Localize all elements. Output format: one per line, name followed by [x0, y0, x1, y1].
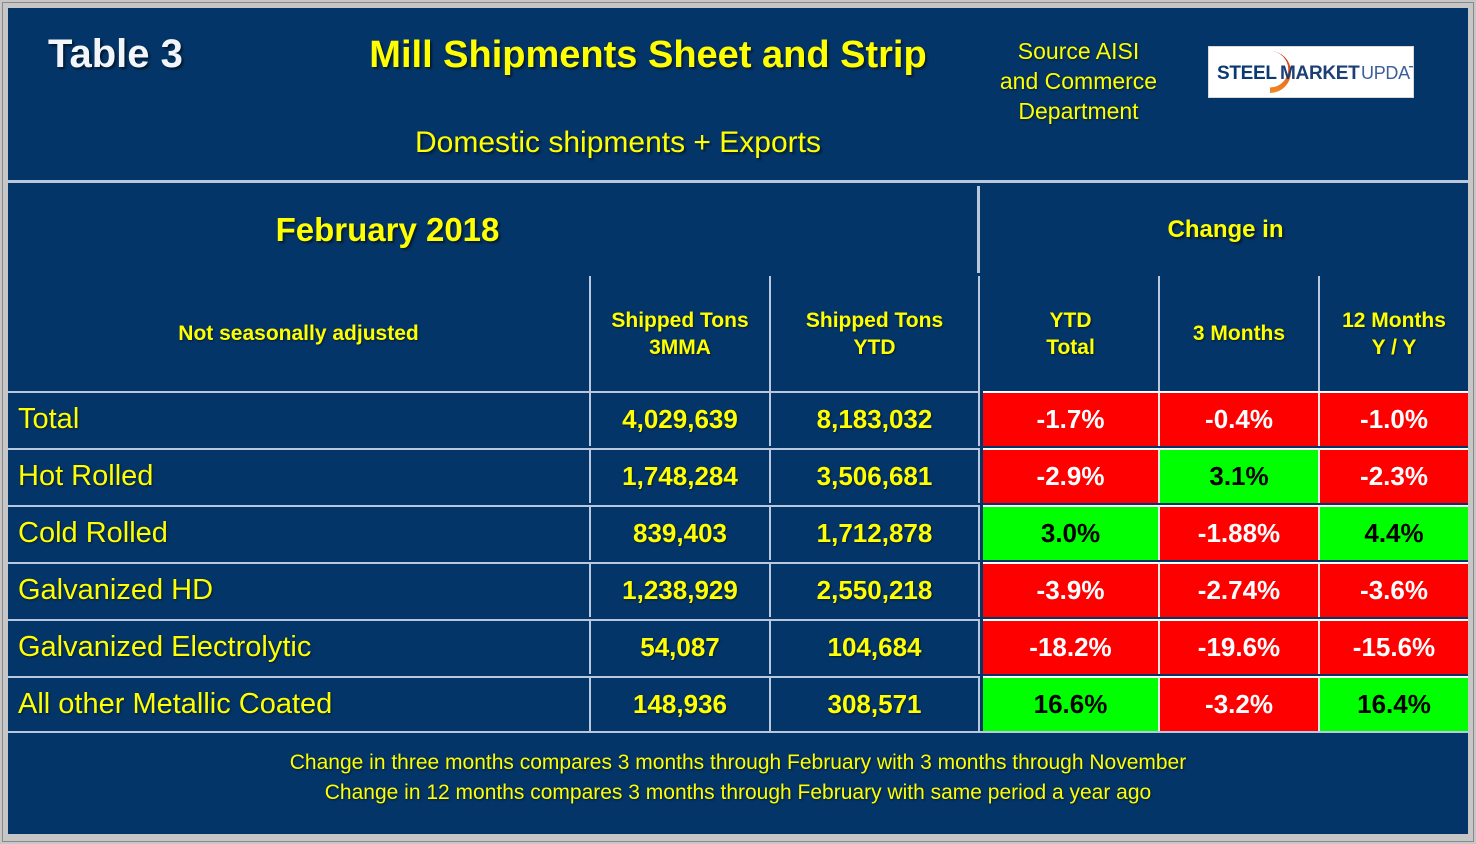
- cell-shipped-3mma: 839,403: [591, 505, 771, 560]
- cell-12-months: -1.0%: [1320, 391, 1468, 446]
- cell-ytd-total: 3.0%: [983, 505, 1160, 560]
- col-header-shipped-ytd: Shipped Tons YTD: [771, 276, 980, 391]
- change-header-cell: Change in: [983, 186, 1468, 273]
- col-header-category: Not seasonally adjusted: [8, 276, 591, 391]
- footnote: Change in three months compares 3 months…: [8, 748, 1468, 808]
- logo-word-market: MARKET: [1280, 63, 1360, 84]
- cell-ytd-total: -3.9%: [983, 562, 1160, 617]
- cell-12-months: -2.3%: [1320, 448, 1468, 503]
- cell-12-months: 16.4%: [1320, 676, 1468, 731]
- col-header-3-months-line1: 3 Months: [1193, 322, 1285, 345]
- row-label: Hot Rolled: [8, 448, 591, 503]
- col-header-ytd-total-line2: Total: [1046, 336, 1095, 359]
- cell-3-months: 3.1%: [1160, 448, 1320, 503]
- row-label: All other Metallic Coated: [8, 676, 591, 731]
- cell-shipped-ytd: 2,550,218: [771, 562, 980, 617]
- logo-artwork: STEEL MARKET UPDATE: [1209, 47, 1413, 97]
- col-header-category-line1: Not seasonally adjusted: [178, 322, 418, 345]
- col-header-12-months-line2: Y / Y: [1372, 336, 1417, 359]
- cell-3-months: -3.2%: [1160, 676, 1320, 731]
- table-row[interactable]: Hot Rolled 1,748,284 3,506,681 -2.9% 3.1…: [8, 448, 1468, 505]
- table-row[interactable]: All other Metallic Coated 148,936 308,57…: [8, 676, 1468, 733]
- cell-12-months: 4.4%: [1320, 505, 1468, 560]
- table-number-label: Table 3: [48, 32, 183, 77]
- page-title: Mill Shipments Sheet and Strip: [308, 34, 988, 77]
- logo-word-steel: STEEL: [1217, 63, 1277, 84]
- col-header-shipped-3mma-line1: Shipped Tons: [611, 309, 748, 332]
- cell-shipped-ytd: 1,712,878: [771, 505, 980, 560]
- cell-shipped-3mma: 148,936: [591, 676, 771, 731]
- cell-ytd-total: -2.9%: [983, 448, 1160, 503]
- cell-3-months: -0.4%: [1160, 391, 1320, 446]
- cell-shipped-3mma: 4,029,639: [591, 391, 771, 446]
- cell-shipped-3mma: 1,748,284: [591, 448, 771, 503]
- slide-frame: Table 3 Mill Shipments Sheet and Strip D…: [0, 0, 1476, 844]
- logo-word-update: UPDATE: [1361, 63, 1413, 83]
- source-note: Source AISI and Commerce Department: [996, 36, 1161, 126]
- col-header-shipped-ytd-line1: Shipped Tons: [806, 309, 943, 332]
- table-row[interactable]: Galvanized HD 1,238,929 2,550,218 -3.9% …: [8, 562, 1468, 619]
- cell-shipped-3mma: 54,087: [591, 619, 771, 674]
- steel-market-update-logo: STEEL MARKET UPDATE: [1208, 46, 1414, 98]
- footnote-line-2: Change in 12 months compares 3 months th…: [8, 778, 1468, 808]
- col-header-12-months-line1: 12 Months: [1342, 309, 1446, 332]
- cell-3-months: -1.88%: [1160, 505, 1320, 560]
- cell-shipped-ytd: 3,506,681: [771, 448, 980, 503]
- table-row[interactable]: Cold Rolled 839,403 1,712,878 3.0% -1.88…: [8, 505, 1468, 562]
- col-header-ytd-total-line1: YTD: [1049, 309, 1091, 332]
- col-header-shipped-3mma: Shipped Tons 3MMA: [591, 276, 771, 391]
- cell-12-months: -15.6%: [1320, 619, 1468, 674]
- col-header-3-months: 3 Months: [1160, 276, 1320, 391]
- table-row[interactable]: Galvanized Electrolytic 54,087 104,684 -…: [8, 619, 1468, 676]
- table-row[interactable]: Total 4,029,639 8,183,032 -1.7% -0.4% -1…: [8, 391, 1468, 448]
- cell-shipped-ytd: 104,684: [771, 619, 980, 674]
- cell-ytd-total: 16.6%: [983, 676, 1160, 731]
- col-header-12-months: 12 Months Y / Y: [1320, 276, 1468, 391]
- footnote-line-1: Change in three months compares 3 months…: [8, 748, 1468, 778]
- row-label: Cold Rolled: [8, 505, 591, 560]
- period-header-cell: February 2018: [8, 186, 980, 273]
- row-label: Total: [8, 391, 591, 446]
- cell-ytd-total: -18.2%: [983, 619, 1160, 674]
- row-label: Galvanized Electrolytic: [8, 619, 591, 674]
- cell-shipped-ytd: 8,183,032: [771, 391, 980, 446]
- col-header-ytd-total: YTD Total: [983, 276, 1160, 391]
- col-header-shipped-ytd-line2: YTD: [854, 336, 896, 359]
- body-bottom-divider: [8, 731, 1468, 733]
- cell-shipped-ytd: 308,571: [771, 676, 980, 731]
- cell-3-months: -19.6%: [1160, 619, 1320, 674]
- cell-ytd-total: -1.7%: [983, 391, 1160, 446]
- page-subtitle: Domestic shipments + Exports: [278, 126, 958, 160]
- cell-3-months: -2.74%: [1160, 562, 1320, 617]
- period-label: February 2018: [8, 211, 977, 249]
- cell-12-months: -3.6%: [1320, 562, 1468, 617]
- column-header-row: Not seasonally adjusted Shipped Tons 3MM…: [8, 273, 1468, 391]
- cell-shipped-3mma: 1,238,929: [591, 562, 771, 617]
- table-body: Total 4,029,639 8,183,032 -1.7% -0.4% -1…: [8, 391, 1468, 733]
- section-header-row: February 2018 Change in: [8, 183, 1468, 273]
- title-band: Table 3 Mill Shipments Sheet and Strip D…: [8, 8, 1468, 180]
- slide-canvas: Table 3 Mill Shipments Sheet and Strip D…: [8, 8, 1468, 834]
- row-label: Galvanized HD: [8, 562, 591, 617]
- col-header-shipped-3mma-line2: 3MMA: [649, 336, 711, 359]
